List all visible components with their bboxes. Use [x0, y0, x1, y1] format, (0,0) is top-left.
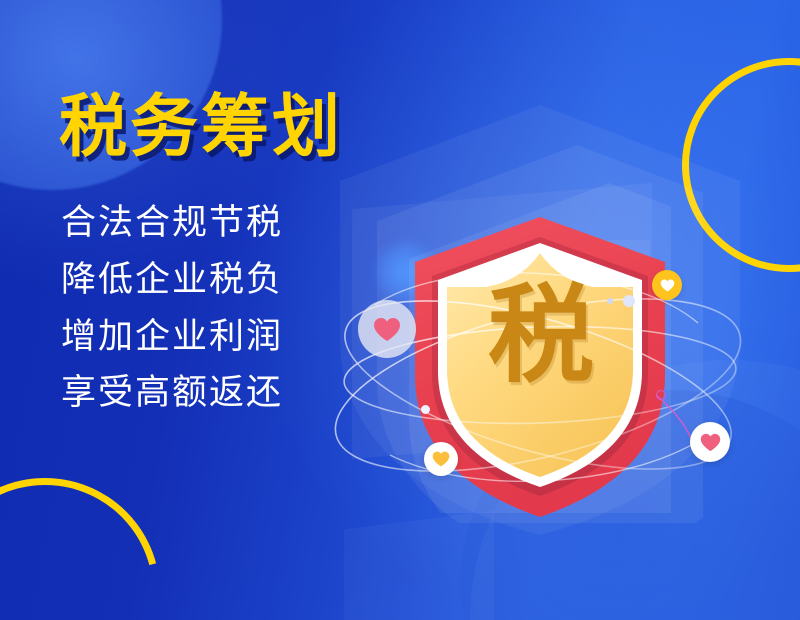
sparkle-dot-left	[421, 405, 430, 414]
heart-icon	[700, 433, 721, 452]
sparkle-dot-large	[623, 295, 635, 307]
magenta-ring-icon	[656, 390, 666, 400]
benefit-item-2: 降低企业税负	[61, 252, 397, 309]
benefit-item-3: 增加企业利润	[61, 309, 397, 366]
sparkle-dot-small	[607, 298, 613, 304]
tax-planning-banner: 税 税务筹划 合法合规节税 降低企业税负 增加企业利润 享受高额返还	[0, 0, 800, 620]
badge-heart-bottom-left	[424, 442, 458, 476]
page-title: 税务筹划	[59, 92, 397, 163]
benefit-item-1: 合法合规节税	[61, 195, 397, 252]
benefit-item-4: 享受高额返还	[61, 365, 397, 422]
heart-icon	[432, 451, 450, 467]
heart-icon	[660, 279, 675, 292]
badge-heart-top-right	[652, 270, 682, 300]
benefit-list: 合法合规节税 降低企业税负 增加企业利润 享受高额返还	[57, 195, 397, 422]
text-block: 税务筹划 合法合规节税 降低企业税负 增加企业利润 享受高额返还	[57, 92, 397, 422]
badge-heart-bottom-right	[690, 422, 730, 462]
